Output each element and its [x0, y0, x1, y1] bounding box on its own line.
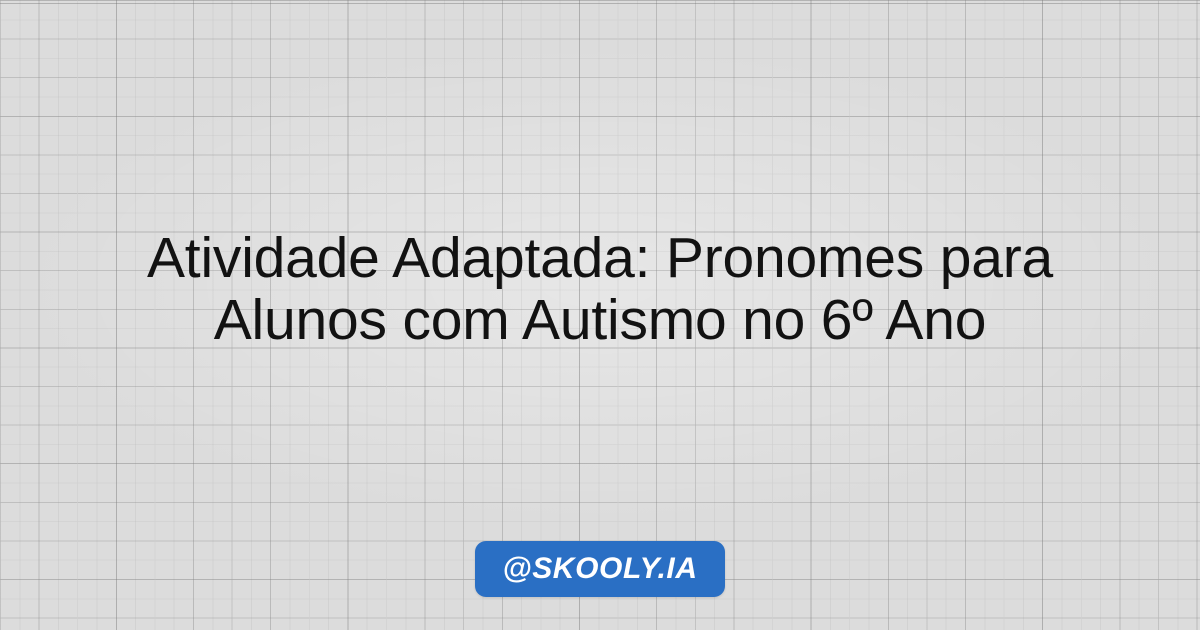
page-title: Atividade Adaptada: Pronomes para Alunos… [35, 227, 1165, 351]
handle-badge-label: @SKOOLY.IA [502, 554, 697, 584]
handle-badge-container: @SKOOLY.IA [0, 541, 1200, 597]
grid-top-rule [0, 3, 1200, 4]
handle-badge: @SKOOLY.IA [475, 541, 724, 597]
page-title-line-2: Alunos com Autismo no 6º Ano [35, 289, 1165, 351]
page-title-line-1: Atividade Adaptada: Pronomes para [35, 227, 1165, 289]
og-card: Atividade Adaptada: Pronomes para Alunos… [0, 0, 1200, 630]
